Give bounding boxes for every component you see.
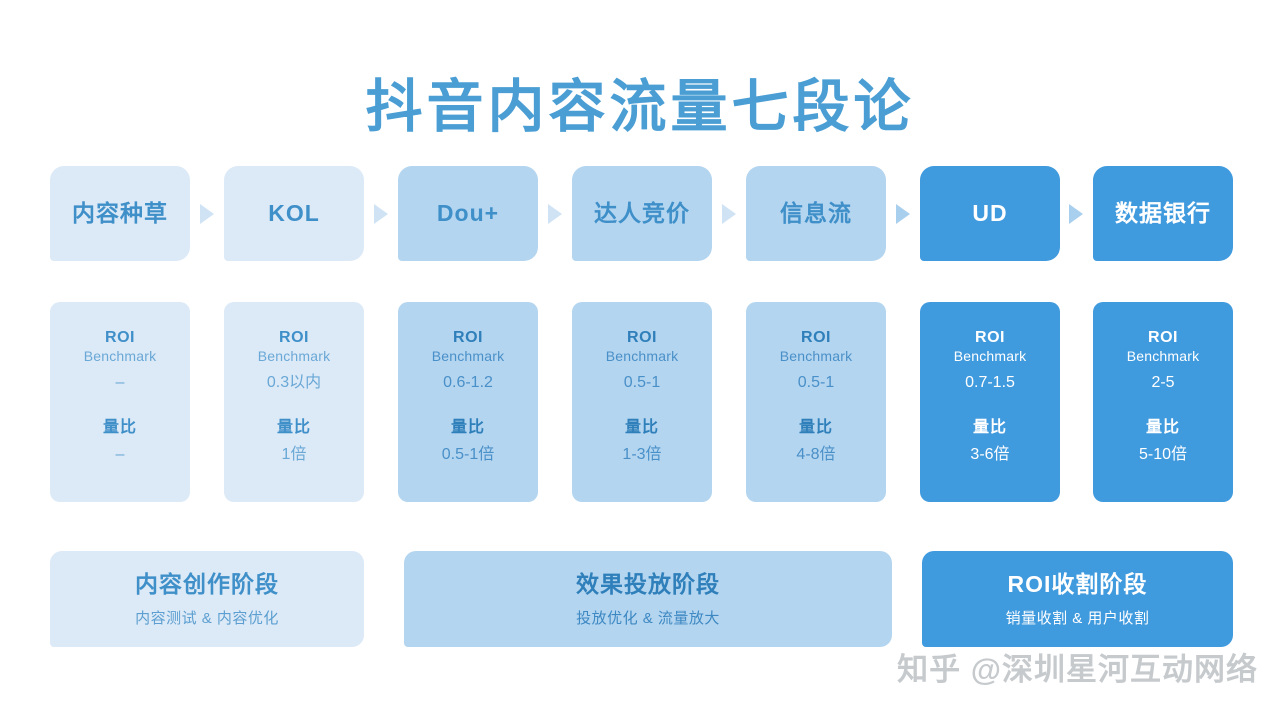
stage-label: UD <box>972 200 1007 228</box>
page-title: 抖音内容流量七段论 <box>0 72 1280 143</box>
stage-box-6[interactable]: UD <box>920 166 1060 261</box>
benchmark-value: – <box>116 373 125 393</box>
benchmark-label: Benchmark <box>258 348 331 366</box>
volume-label: 量比 <box>1146 418 1180 438</box>
arrow-right-icon <box>722 204 736 224</box>
benchmark-label: Benchmark <box>1127 348 1200 366</box>
roi-title: ROI <box>279 328 309 348</box>
arrow-right-icon <box>200 204 214 224</box>
volume-value: 1倍 <box>282 445 307 465</box>
volume-value: – <box>116 445 125 465</box>
stage-box-4[interactable]: 达人竞价 <box>572 166 712 261</box>
stage-box-7[interactable]: 数据银行 <box>1093 166 1233 261</box>
stage-box-1[interactable]: 内容种草 <box>50 166 190 261</box>
benchmark-value: 0.6-1.2 <box>443 373 493 393</box>
volume-label: 量比 <box>973 418 1007 438</box>
roi-card-6[interactable]: ROIBenchmark0.7-1.5量比3-6倍 <box>920 302 1060 502</box>
stage-flow-row: 内容种草KOLDou+达人竞价信息流UD数据银行 <box>50 166 1233 261</box>
benchmark-value: 2-5 <box>1151 373 1174 393</box>
benchmark-value: 0.3以内 <box>267 373 321 393</box>
arrow-right-icon <box>548 204 562 224</box>
volume-label: 量比 <box>451 418 485 438</box>
arrow-right-icon <box>374 204 388 224</box>
benchmark-label: Benchmark <box>780 348 853 366</box>
roi-card-2[interactable]: ROIBenchmark0.3以内量比1倍 <box>224 302 364 502</box>
roi-card-4[interactable]: ROIBenchmark0.5-1量比1-3倍 <box>572 302 712 502</box>
roi-title: ROI <box>975 328 1005 348</box>
phase-title: ROI收割阶段 <box>1008 570 1148 599</box>
roi-title: ROI <box>453 328 483 348</box>
stage-box-3[interactable]: Dou+ <box>398 166 538 261</box>
stage-label: KOL <box>268 200 320 228</box>
stage-label: Dou+ <box>437 200 499 228</box>
volume-label: 量比 <box>625 418 659 438</box>
volume-value: 4-8倍 <box>796 445 835 465</box>
stage-label: 数据银行 <box>1115 200 1211 228</box>
roi-card-3[interactable]: ROIBenchmark0.6-1.2量比0.5-1倍 <box>398 302 538 502</box>
benchmark-value: 0.7-1.5 <box>965 373 1015 393</box>
phase-title: 效果投放阶段 <box>576 570 720 599</box>
stage-label: 内容种草 <box>72 200 168 228</box>
stage-label: 信息流 <box>780 200 852 228</box>
volume-label: 量比 <box>799 418 833 438</box>
phase-bar-1[interactable]: 内容创作阶段内容测试 & 内容优化 <box>50 551 364 647</box>
roi-title: ROI <box>1148 328 1178 348</box>
arrow-right-icon <box>1069 204 1083 224</box>
benchmark-label: Benchmark <box>84 348 157 366</box>
volume-value: 3-6倍 <box>970 445 1009 465</box>
roi-card-1[interactable]: ROIBenchmark–量比– <box>50 302 190 502</box>
phase-bar-2[interactable]: 效果投放阶段投放优化 & 流量放大 <box>404 551 892 647</box>
stage-box-5[interactable]: 信息流 <box>746 166 886 261</box>
phase-subtitle: 投放优化 & 流量放大 <box>576 607 720 628</box>
volume-value: 0.5-1倍 <box>442 445 494 465</box>
volume-label: 量比 <box>103 418 137 438</box>
volume-value: 5-10倍 <box>1139 445 1187 465</box>
phase-bar-3[interactable]: ROI收割阶段销量收割 & 用户收割 <box>922 551 1233 647</box>
stage-label: 达人竞价 <box>594 200 690 228</box>
watermark: 知乎 @深圳星河互动网络 <box>897 644 1258 689</box>
benchmark-label: Benchmark <box>954 348 1027 366</box>
benchmark-value: 0.5-1 <box>798 373 834 393</box>
roi-card-7[interactable]: ROIBenchmark2-5量比5-10倍 <box>1093 302 1233 502</box>
benchmark-value: 0.5-1 <box>624 373 660 393</box>
phase-title: 内容创作阶段 <box>135 570 279 599</box>
benchmark-label: Benchmark <box>606 348 679 366</box>
volume-label: 量比 <box>277 418 311 438</box>
phase-subtitle: 内容测试 & 内容优化 <box>135 607 279 628</box>
volume-value: 1-3倍 <box>622 445 661 465</box>
roi-card-5[interactable]: ROIBenchmark0.5-1量比4-8倍 <box>746 302 886 502</box>
roi-benchmark-row: ROIBenchmark–量比–ROIBenchmark0.3以内量比1倍ROI… <box>50 302 1233 502</box>
roi-title: ROI <box>801 328 831 348</box>
roi-title: ROI <box>105 328 135 348</box>
arrow-right-icon <box>896 204 910 224</box>
stage-box-2[interactable]: KOL <box>224 166 364 261</box>
roi-title: ROI <box>627 328 657 348</box>
phase-subtitle: 销量收割 & 用户收割 <box>1006 607 1150 628</box>
benchmark-label: Benchmark <box>432 348 505 366</box>
phase-summary-row: 内容创作阶段内容测试 & 内容优化效果投放阶段投放优化 & 流量放大ROI收割阶… <box>50 551 1233 647</box>
